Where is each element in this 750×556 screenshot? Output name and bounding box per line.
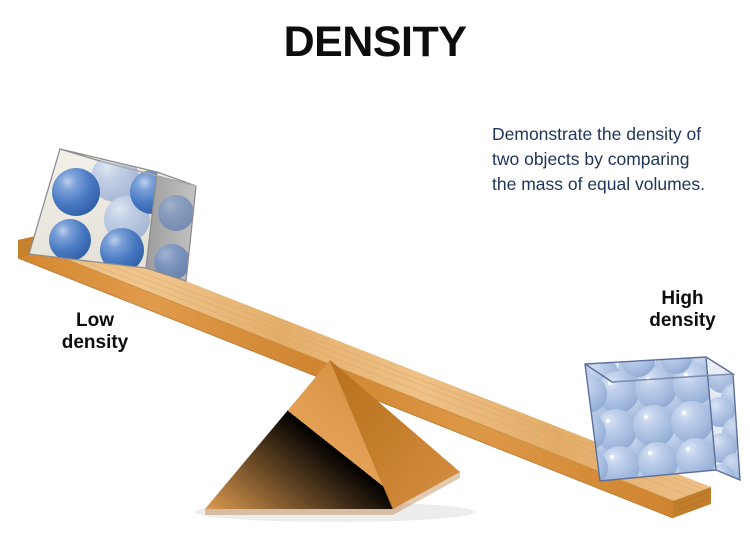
particle (52, 168, 100, 216)
label-high-density: High density (620, 288, 745, 332)
particle (569, 375, 607, 413)
particle (633, 405, 675, 447)
balance-scene (0, 0, 750, 556)
particle (49, 219, 91, 261)
particle (671, 401, 713, 443)
label-low-density: Low density (25, 310, 165, 354)
density-illustration: DENSITY Demonstrate the density of two o… (0, 0, 750, 556)
